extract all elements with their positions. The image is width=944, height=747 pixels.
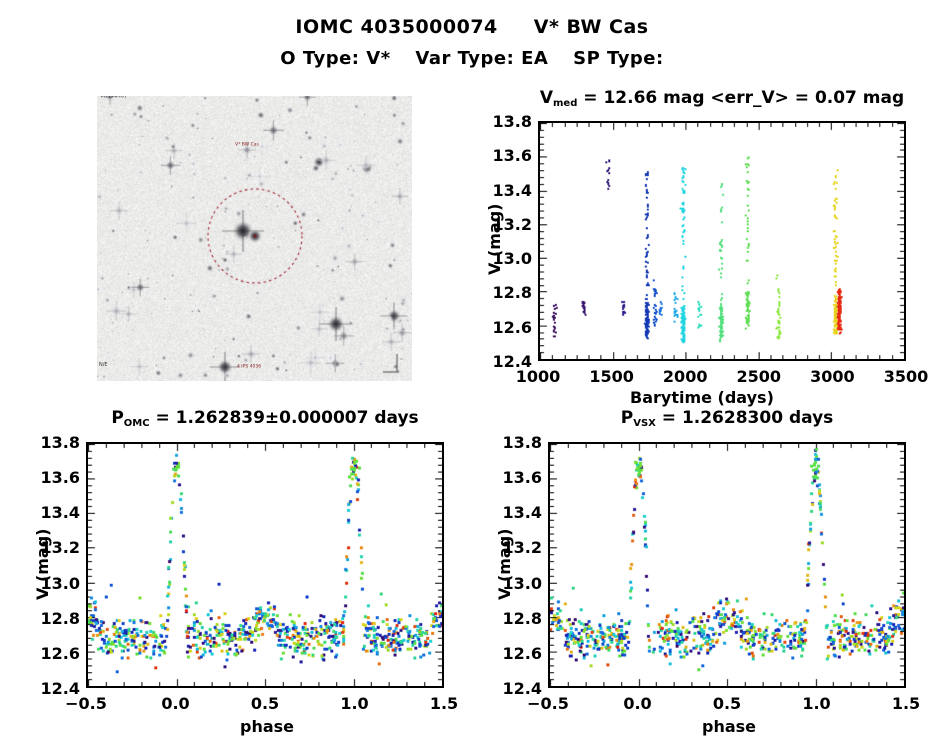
vmed-symbol: V xyxy=(540,88,553,108)
y-tick-label: 13.4 xyxy=(26,503,80,522)
x-tick-label: 0.5 xyxy=(692,694,762,713)
dss-finder-chart: V* BW Cas POSS-II red 4 IPS 4036 N/E xyxy=(97,96,412,381)
finder-bottom-label: 4 IPS 4036 xyxy=(237,364,261,369)
p-vsx-subscript: VSX xyxy=(633,418,656,429)
x-tick-label: 1.5 xyxy=(871,694,941,713)
x-tick-label: 3500 xyxy=(871,367,941,386)
y-tick-label: 13.6 xyxy=(478,146,532,165)
y-tick-label: 12.8 xyxy=(478,283,532,302)
y-tick-label: 12.8 xyxy=(488,609,542,628)
object-type-line: O Type: V* Var Type: EA SP Type: xyxy=(0,48,944,69)
finder-orientation-label: N/E xyxy=(99,362,108,368)
timeseries-xlabel: Barytime (days) xyxy=(630,388,774,407)
y-tick-label: 13.4 xyxy=(488,503,542,522)
phase-vsx-xlabel: phase xyxy=(702,717,756,736)
page-title: IOMC 4035000074V* BW Cas xyxy=(0,16,944,38)
y-tick-label: 12.4 xyxy=(26,679,80,698)
vmed-subscript: med xyxy=(553,98,577,109)
sky-image xyxy=(97,96,412,381)
y-tick-label: 13.6 xyxy=(488,468,542,487)
x-tick-label: 3000 xyxy=(797,367,867,386)
y-tick-label: 12.4 xyxy=(488,679,542,698)
sp-type-label: SP Type: xyxy=(573,48,664,69)
object-name: V* BW Cas xyxy=(534,16,649,38)
phase-omc-ylabel: V (mag) xyxy=(33,529,52,601)
catalog-id: IOMC 4035000074 xyxy=(295,16,497,38)
p-omc-subscript: OMC xyxy=(124,418,150,429)
y-tick-label: 12.8 xyxy=(26,609,80,628)
omc-variable-star-sheet: IOMC 4035000074V* BW Cas O Type: V* Var … xyxy=(0,0,944,747)
phase-omc-plot-frame xyxy=(86,442,444,688)
var-type-value: EA xyxy=(521,48,548,69)
x-tick-label: 0.5 xyxy=(230,694,300,713)
finder-survey-label: POSS-II red xyxy=(101,96,126,99)
x-tick-label: 0.0 xyxy=(141,694,211,713)
x-tick-label: 0.0 xyxy=(603,694,673,713)
phase-omc-points xyxy=(88,444,442,686)
p-vsx-symbol: P xyxy=(621,408,633,428)
timeseries-ylabel: V (mag) xyxy=(485,204,504,276)
p-vsx-text: = 1.2628300 days xyxy=(656,408,833,428)
phase-vsx-plot-frame xyxy=(548,442,906,688)
y-tick-label: 13.8 xyxy=(26,433,80,452)
p-omc-text: = 1.262839±0.000007 days xyxy=(150,408,419,428)
phase-omc-title: POMC = 1.262839±0.000007 days xyxy=(86,408,444,428)
timeseries-title: Vmed = 12.66 mag <err_V> = 0.07 mag xyxy=(538,88,906,108)
phase-vsx-title: PVSX = 1.2628300 days xyxy=(548,408,906,428)
phase-vsx-points xyxy=(550,444,904,686)
o-type-label: O Type: xyxy=(280,48,359,69)
x-tick-label: 2500 xyxy=(724,367,794,386)
o-type-value: V* xyxy=(366,48,390,69)
phase-vsx-ylabel: V (mag) xyxy=(495,529,514,601)
y-tick-label: 13.8 xyxy=(488,433,542,452)
y-tick-label: 12.6 xyxy=(488,644,542,663)
p-omc-symbol: P xyxy=(111,408,123,428)
finder-object-label: V* BW Cas xyxy=(235,142,259,147)
x-tick-label: 1.0 xyxy=(782,694,852,713)
x-tick-label: 1.5 xyxy=(409,694,479,713)
timeseries-plot-frame xyxy=(538,121,906,361)
var-type-label: Var Type: xyxy=(415,48,514,69)
x-tick-label: 1500 xyxy=(577,367,647,386)
y-tick-label: 12.6 xyxy=(26,644,80,663)
y-tick-label: 13.8 xyxy=(478,112,532,131)
y-tick-label: 12.4 xyxy=(478,352,532,371)
x-tick-label: 1.0 xyxy=(320,694,390,713)
phase-omc-xlabel: phase xyxy=(240,717,294,736)
y-tick-label: 13.4 xyxy=(478,181,532,200)
x-tick-label: 2000 xyxy=(650,367,720,386)
timeseries-points xyxy=(540,123,904,359)
y-tick-label: 12.6 xyxy=(478,318,532,337)
y-tick-label: 13.6 xyxy=(26,468,80,487)
vmed-text: = 12.66 mag <err_V> = 0.07 mag xyxy=(577,88,904,108)
